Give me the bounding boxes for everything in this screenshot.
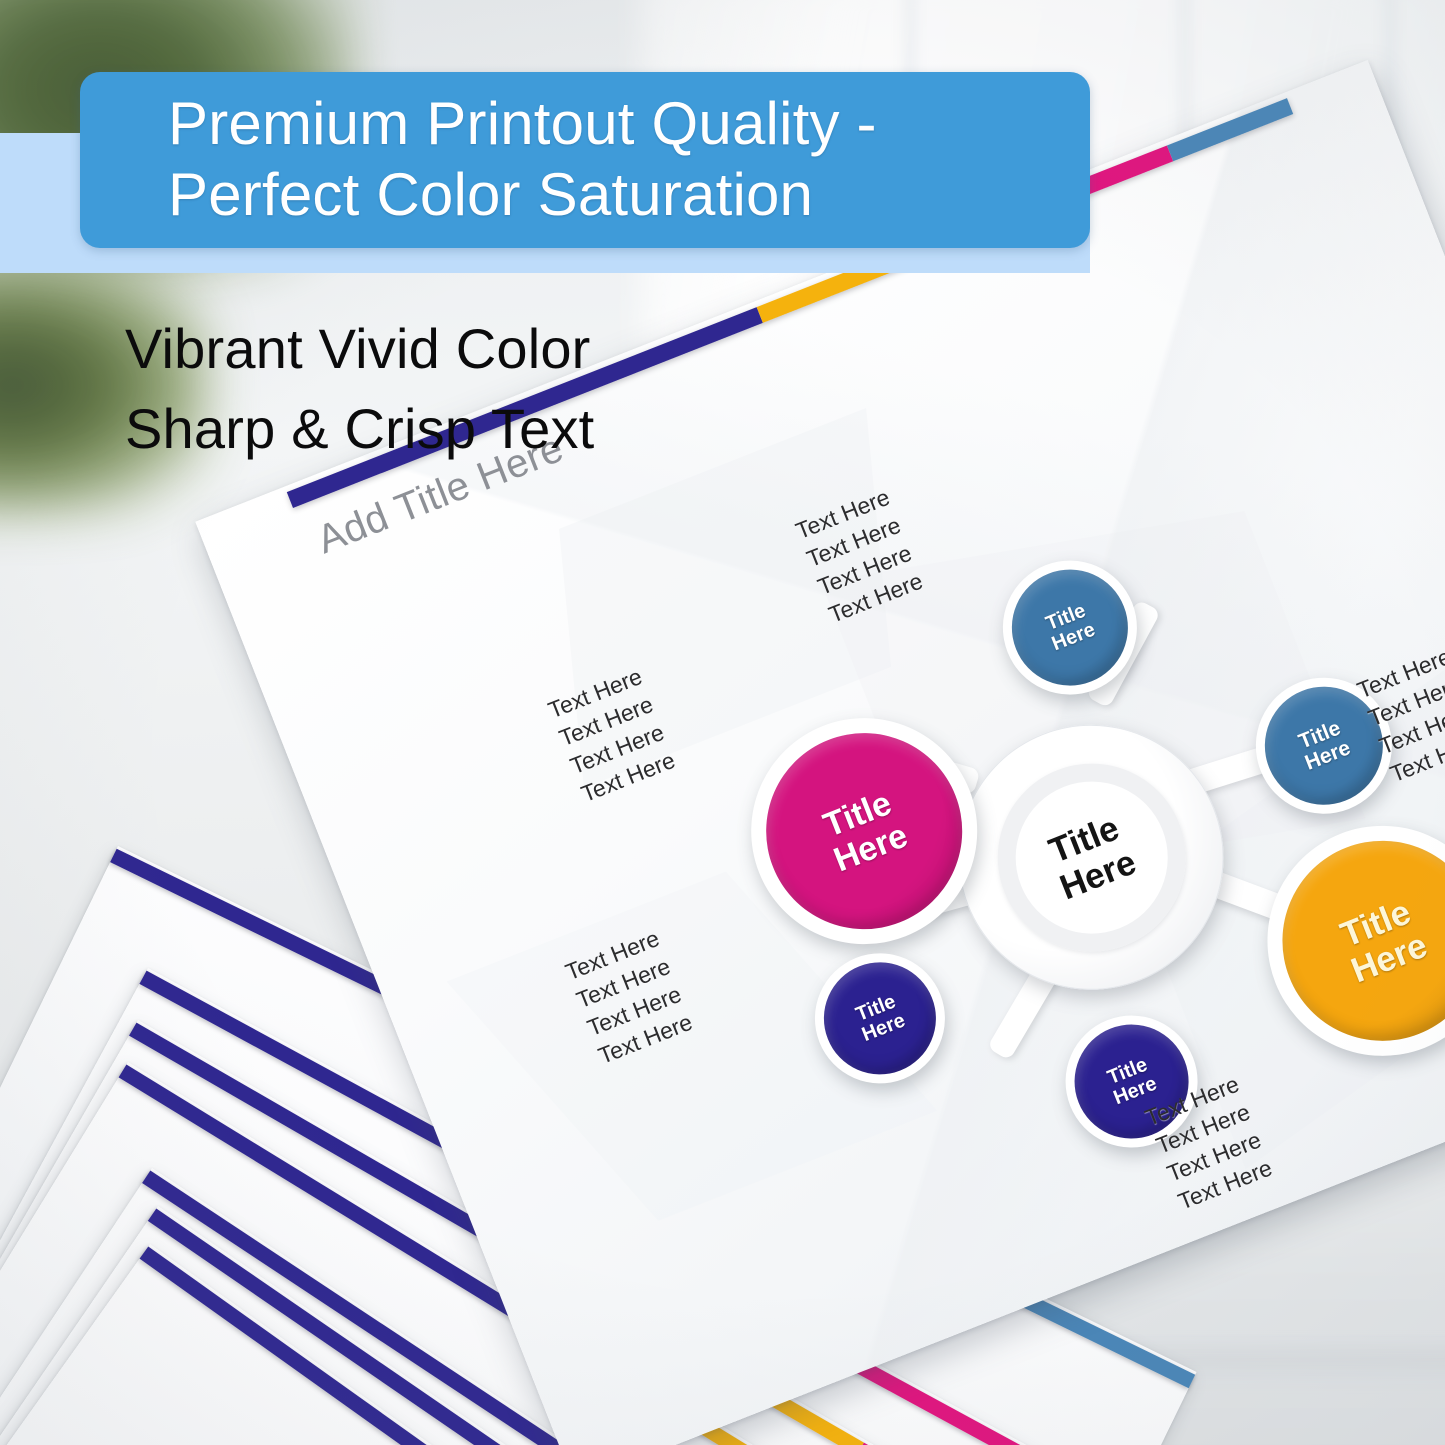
banner-line-2: Perfect Color Saturation	[168, 160, 1090, 231]
banner-line-1: Premium Printout Quality -	[168, 89, 1090, 160]
header-banner: Premium Printout Quality - Perfect Color…	[80, 72, 1090, 248]
subheading-line-1: Vibrant Vivid Color	[125, 318, 591, 381]
subheading-line-2: Sharp & Crisp Text	[125, 398, 594, 461]
product-image-stage: A Add Title Here Title Here	[0, 0, 1445, 1445]
